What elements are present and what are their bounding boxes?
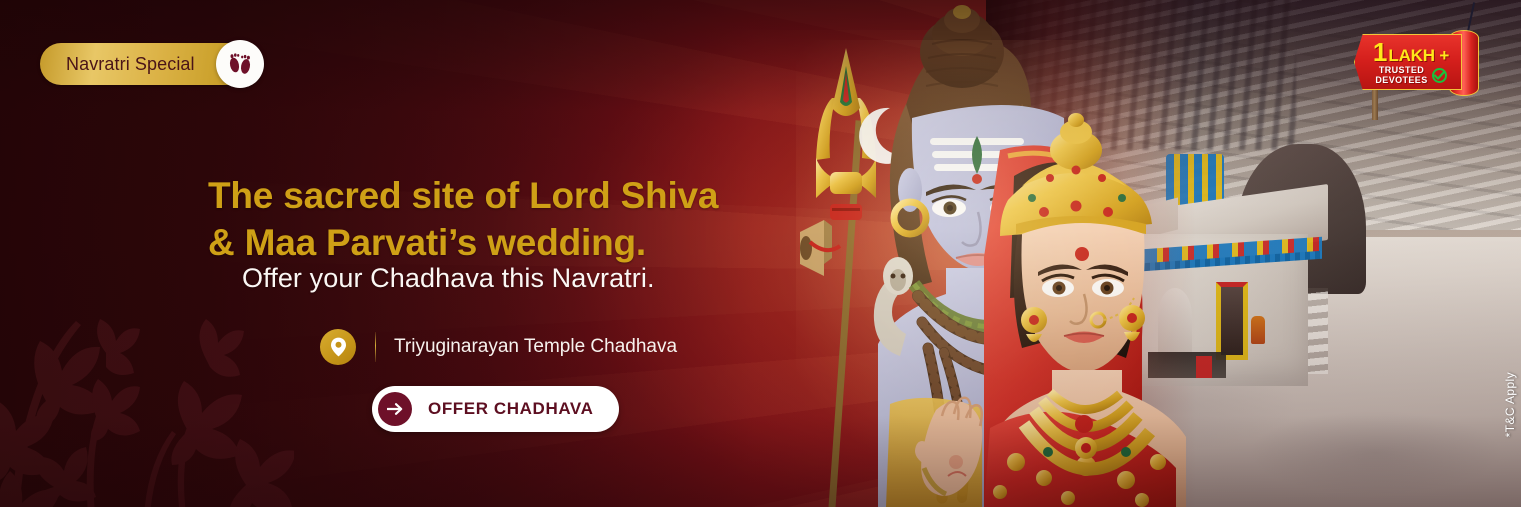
check-circle-icon	[1432, 68, 1447, 83]
navratri-special-label: Navratri Special	[66, 54, 195, 75]
copy-column: Navratri Special The sacred site of Lord…	[0, 0, 790, 507]
location-label: Triyuginarayan Temple Chadhava	[394, 336, 677, 358]
footprints-icon	[225, 49, 255, 79]
check-glyph	[1434, 71, 1445, 80]
footprints-badge	[216, 40, 264, 88]
location-row: Triyuginarayan Temple Chadhava	[320, 329, 677, 365]
location-pin-icon	[330, 337, 347, 357]
ribbon-count: 1	[1373, 39, 1387, 65]
headline-line-1: The sacred site of Lord Shiva	[208, 175, 718, 216]
location-divider	[375, 332, 376, 362]
offer-chadhava-label: OFFER CHADHAVA	[428, 399, 593, 419]
subheadline: Offer your Chadhava this Navratri.	[242, 263, 655, 294]
arrow-right-glyph	[387, 402, 404, 416]
headline-line-2: & Maa Parvati’s wedding.	[208, 220, 808, 267]
ribbon-subtitle: TRUSTED DEVOTEES	[1375, 66, 1427, 85]
terms-and-conditions-note: *T&C Apply	[1503, 372, 1517, 437]
ribbon-body: 1 LAKH + TRUSTED DEVOTEES	[1354, 34, 1462, 90]
ribbon-subtitle-row: TRUSTED DEVOTEES	[1375, 66, 1446, 85]
location-pin-badge	[320, 329, 356, 365]
ribbon-subtitle-line-2: DEVOTEES	[1375, 75, 1427, 85]
promo-banner: Navratri Special The sacred site of Lord…	[0, 0, 1521, 507]
trusted-devotees-ribbon: 1 LAKH + TRUSTED DEVOTEES	[1354, 24, 1479, 86]
offer-chadhava-button[interactable]: OFFER CHADHAVA	[372, 386, 619, 432]
arrow-right-icon	[378, 392, 412, 426]
page-title: The sacred site of Lord Shiva & Maa Parv…	[208, 173, 808, 267]
ribbon-count-unit: LAKH +	[1388, 47, 1449, 64]
ribbon-count-row: 1 LAKH +	[1373, 39, 1449, 65]
